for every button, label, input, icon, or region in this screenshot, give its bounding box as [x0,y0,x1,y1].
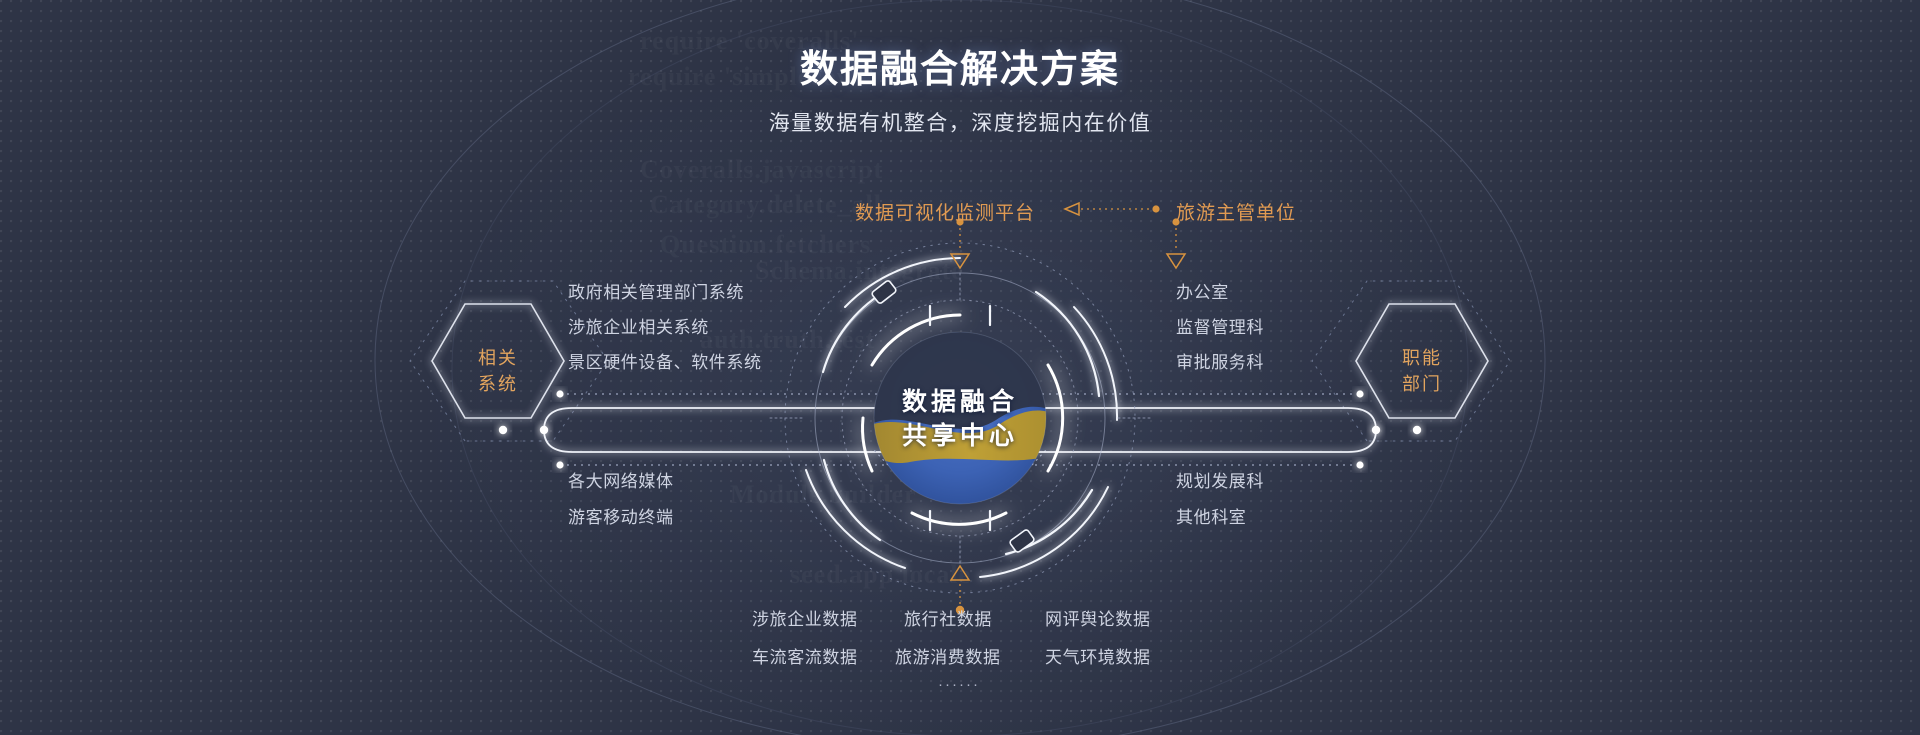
right-item-4[interactable]: 其他科室 [1176,503,1246,528]
hexagon-left-label: 相关 系统 [438,345,558,397]
top-label-visualization-platform[interactable]: 数据可视化监测平台 [855,198,1035,225]
bottom-item-4[interactable]: 旅游消费数据 [895,643,1001,668]
page-subtitle: 海量数据有机整合，深度挖掘内在价值 [0,93,1920,137]
core-sphere[interactable] [860,330,1062,504]
bottom-more-indicator: ······ [938,676,980,693]
bottom-item-1[interactable]: 旅行社数据 [904,605,992,630]
left-item-1[interactable]: 涉旅企业相关系统 [568,313,709,338]
bottom-item-5[interactable]: 天气环境数据 [1045,643,1151,668]
bottom-item-3[interactable]: 车流客流数据 [752,643,858,668]
left-item-0[interactable]: 政府相关管理部门系统 [568,278,744,303]
hexagon-left-line2: 系统 [438,371,558,397]
hexagon-left-line1: 相关 [438,345,558,371]
left-item-3[interactable]: 各大网络媒体 [568,467,674,492]
diagram-canvas: require 'coveralls' require 'simplecov' … [0,0,1920,735]
top-label-tourism-authority[interactable]: 旅游主管单位 [1176,198,1296,225]
right-item-3[interactable]: 规划发展科 [1176,467,1264,492]
right-item-0[interactable]: 办公室 [1176,278,1229,303]
bottom-item-2[interactable]: 网评舆论数据 [1045,605,1151,630]
hexagon-right-line2: 部门 [1362,371,1482,397]
hexagon-right-label: 职能 部门 [1362,345,1482,397]
right-item-1[interactable]: 监督管理科 [1176,313,1264,338]
header: 数据融合解决方案 海量数据有机整合，深度挖掘内在价值 [0,0,1920,137]
right-item-2[interactable]: 审批服务科 [1176,348,1264,373]
page-title: 数据融合解决方案 [0,0,1920,93]
bottom-item-0[interactable]: 涉旅企业数据 [752,605,858,630]
hexagon-right-line1: 职能 [1362,345,1482,371]
left-item-2[interactable]: 景区硬件设备、软件系统 [568,348,762,373]
left-item-4[interactable]: 游客移动终端 [568,503,674,528]
